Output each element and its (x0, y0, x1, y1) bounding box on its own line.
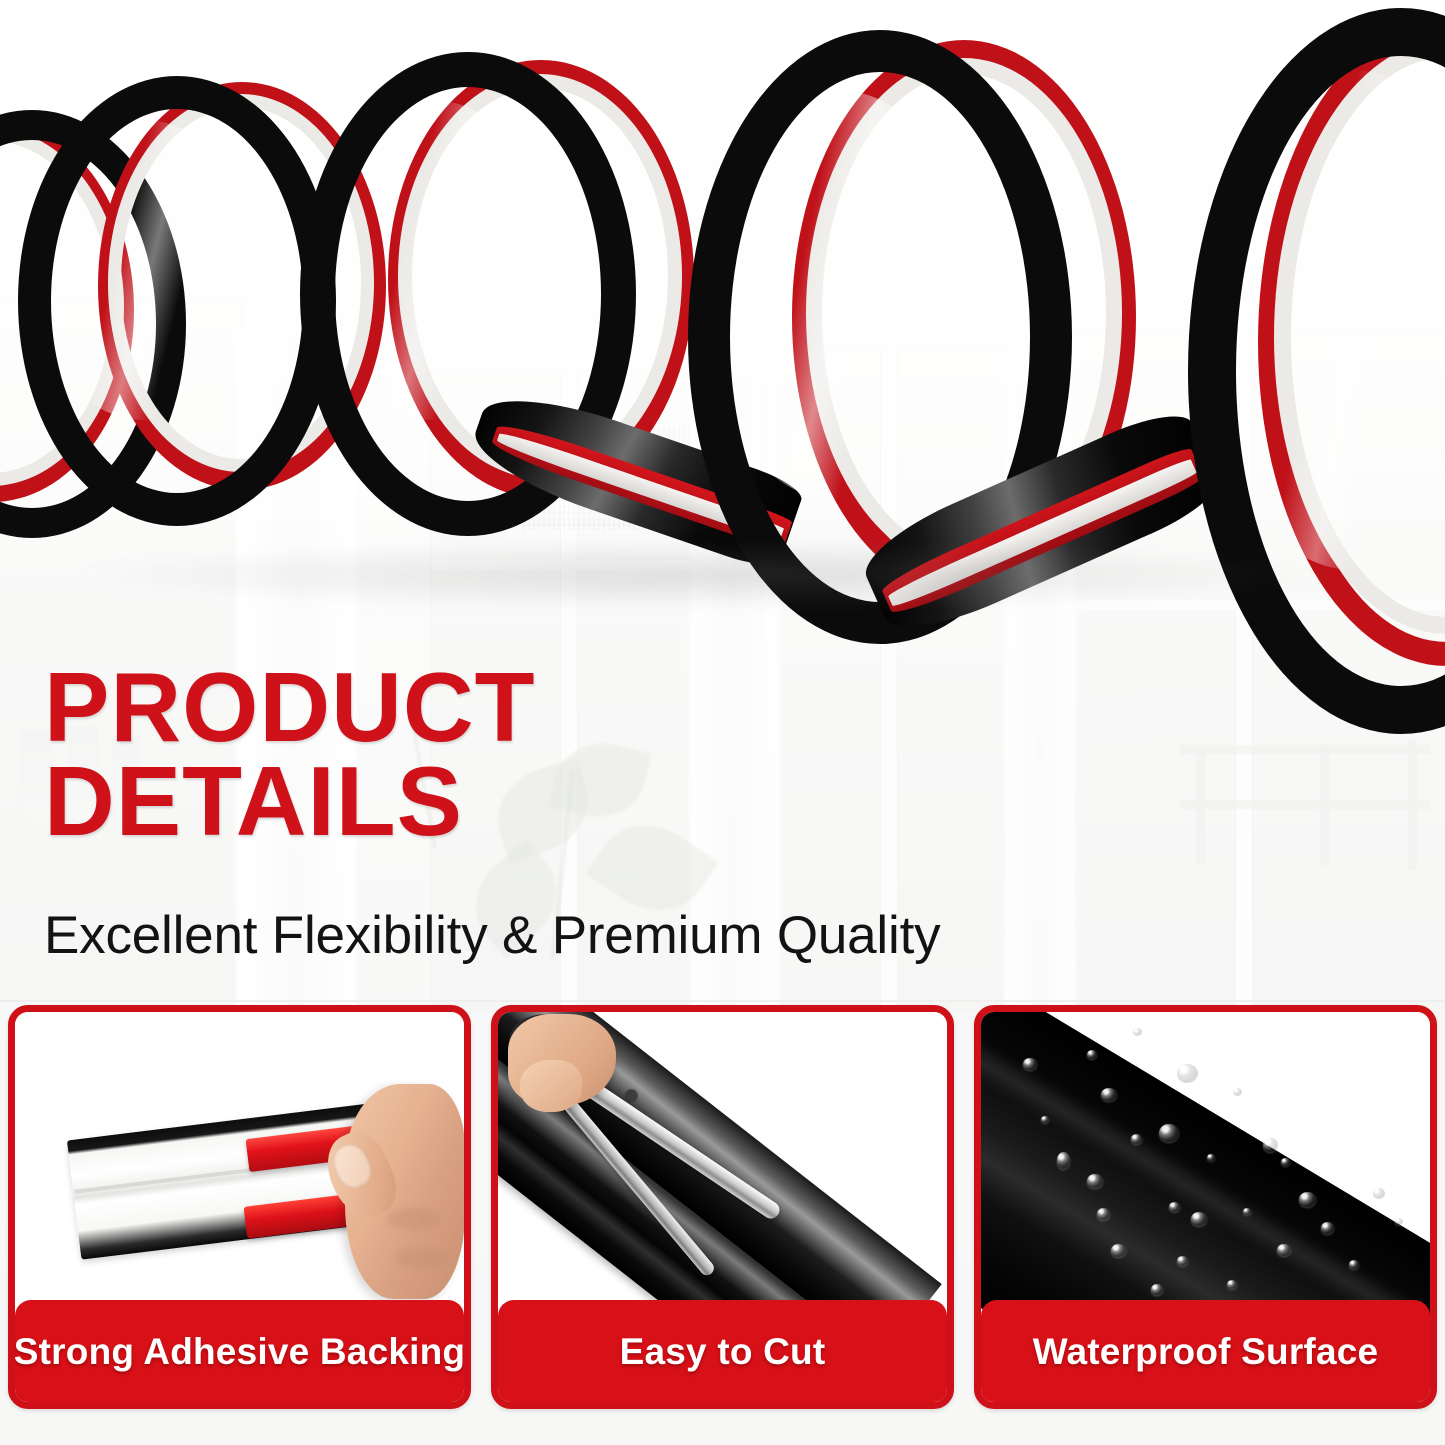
feature-card-easy-to-cut[interactable]: Easy to Cut (491, 1005, 954, 1409)
page-title: PRODUCT DETAILS (44, 660, 1044, 848)
hand-thumb (520, 1060, 582, 1112)
card-caption-text: Easy to Cut (620, 1331, 826, 1373)
feature-card-waterproof-surface[interactable]: Waterproof Surface (974, 1005, 1437, 1409)
water-droplet (1191, 1212, 1207, 1226)
water-droplet (1233, 1088, 1242, 1096)
card-photo-water-droplets (981, 1012, 1430, 1317)
feature-card-row: Strong Adhesive Backing Easy to Cut (8, 1005, 1437, 1409)
water-droplet (1243, 1208, 1251, 1215)
scissors-pivot-screw (626, 1090, 637, 1101)
water-droplet (1169, 1202, 1180, 1212)
water-droplet (1277, 1244, 1291, 1256)
water-droplet (1321, 1222, 1334, 1234)
card-photo-scissors-cut (498, 1012, 947, 1317)
hero-coiled-trim-strip (0, 0, 1445, 700)
water-droplet (1101, 1088, 1117, 1101)
water-droplet (1097, 1208, 1110, 1220)
water-droplet (1087, 1174, 1103, 1188)
water-droplet (1111, 1244, 1126, 1257)
water-droplet (1159, 1124, 1179, 1142)
water-droplet (1373, 1188, 1385, 1199)
subheadline: Excellent Flexibility & Premium Quality (44, 905, 940, 966)
water-droplet (1299, 1192, 1316, 1207)
water-droplet (1023, 1058, 1037, 1070)
knuckle-crease (395, 1248, 447, 1268)
water-droplet (1349, 1260, 1359, 1269)
feature-card-strong-adhesive-backing[interactable]: Strong Adhesive Backing (8, 1005, 471, 1409)
knuckle-crease (387, 1208, 441, 1230)
water-droplet (1177, 1256, 1188, 1266)
water-droplet (1133, 1028, 1142, 1036)
water-droplet (1131, 1134, 1142, 1144)
strip-black-band (18, 76, 336, 526)
water-droplet (1057, 1152, 1070, 1169)
water-droplet (1263, 1138, 1278, 1152)
water-droplet (1087, 1050, 1097, 1059)
water-droplet (1177, 1064, 1198, 1083)
water-droplet (1227, 1280, 1237, 1289)
water-droplet (1395, 1218, 1403, 1225)
card-caption-bar: Strong Adhesive Backing (15, 1300, 464, 1404)
headline-block: PRODUCT DETAILS (44, 660, 1044, 848)
card-caption-bar: Waterproof Surface (981, 1300, 1430, 1404)
water-droplet (1151, 1284, 1163, 1295)
water-droplet (1281, 1158, 1290, 1166)
water-droplet (1207, 1154, 1215, 1161)
water-droplet (1041, 1116, 1049, 1123)
card-photo-adhesive-peel (15, 1012, 464, 1317)
coil-shadow (60, 540, 1360, 610)
card-caption-bar: Easy to Cut (498, 1300, 947, 1404)
card-caption-text: Strong Adhesive Backing (14, 1331, 465, 1373)
strip-black-band (1188, 8, 1445, 734)
card-caption-text: Waterproof Surface (1033, 1331, 1379, 1373)
